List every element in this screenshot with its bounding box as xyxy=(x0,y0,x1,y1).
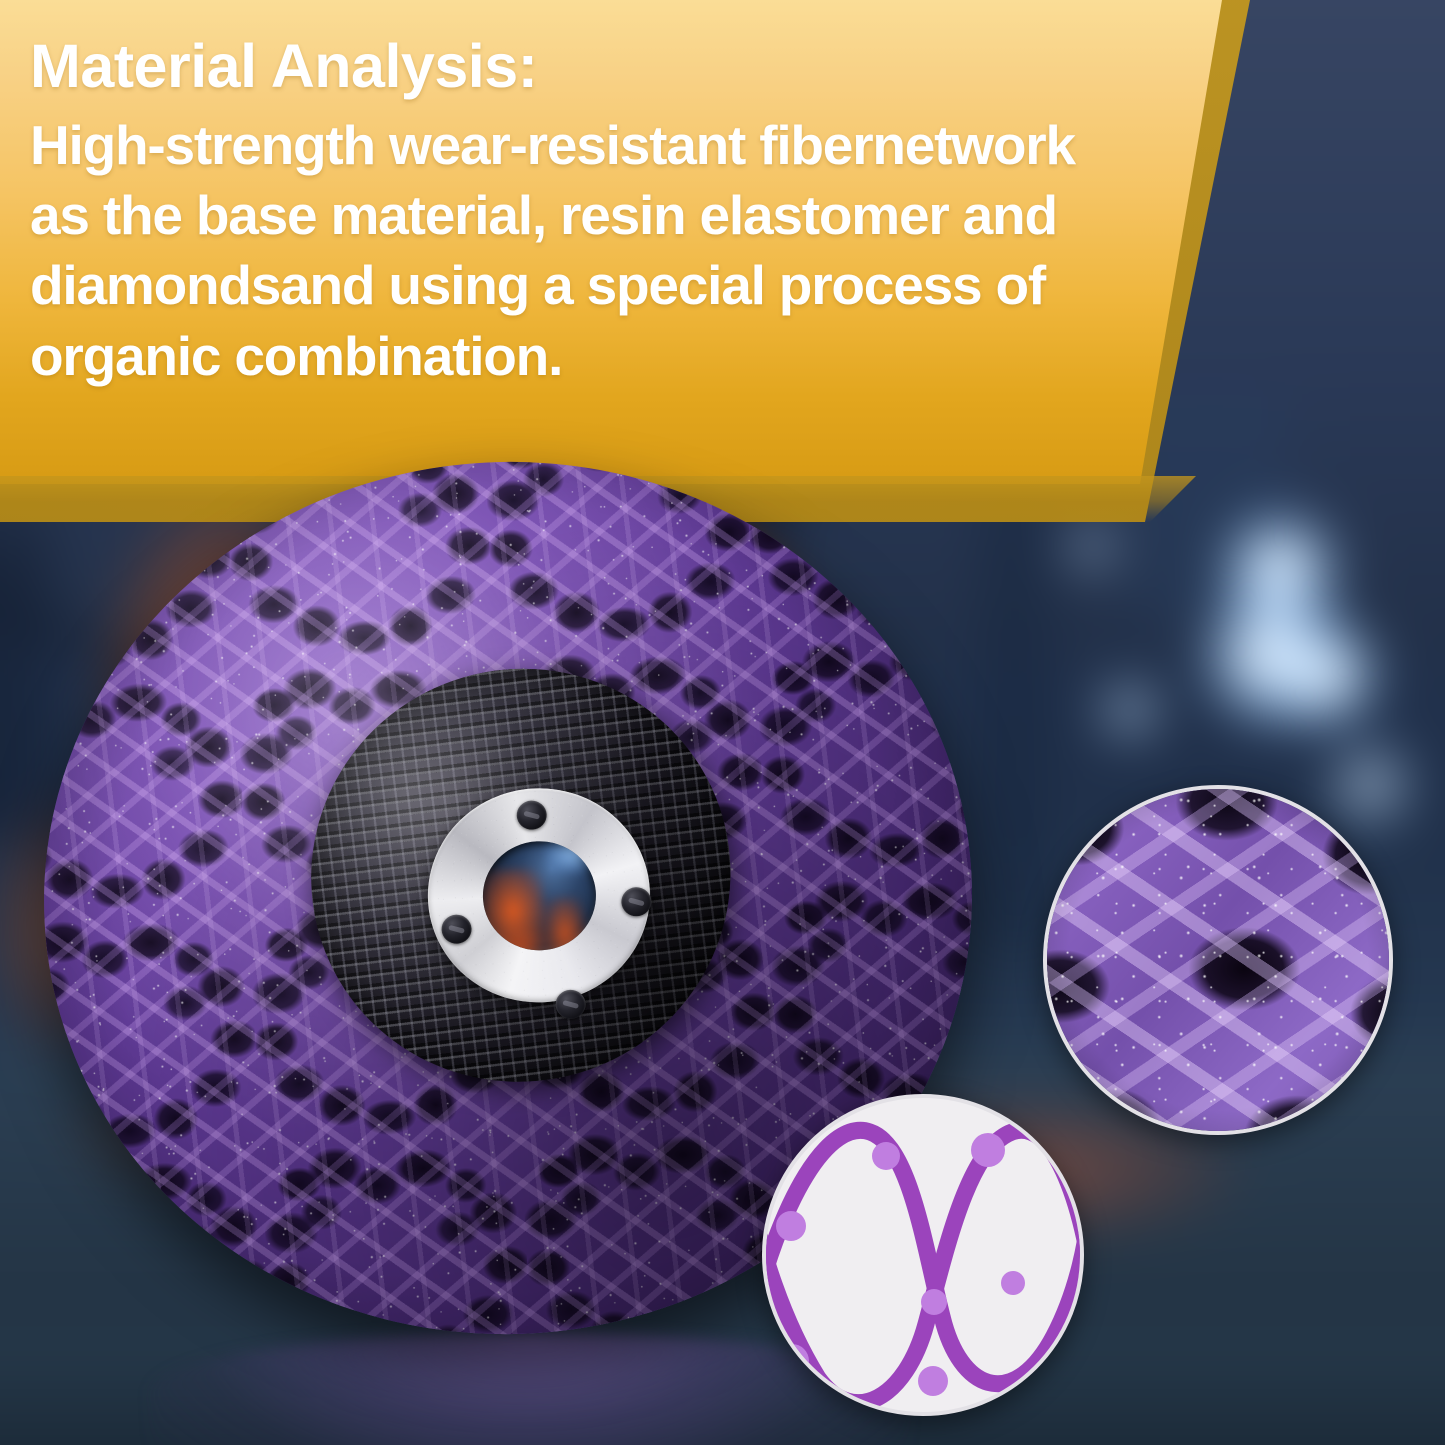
wave-node xyxy=(918,1366,948,1396)
fiber-network-wave-diagram xyxy=(766,1098,1080,1412)
banner-text-block: Material Analysis: High-strength wear-re… xyxy=(30,34,1180,391)
bore-glow xyxy=(494,923,551,953)
description-line: organic combination. xyxy=(30,321,1180,391)
work-lamp xyxy=(1065,520,1119,574)
page-title: Material Analysis: xyxy=(30,34,1180,99)
wave-node xyxy=(1001,1271,1025,1295)
wave-node xyxy=(775,1344,809,1378)
wave-node xyxy=(872,1142,900,1170)
product-infographic: Material Analysis: High-strength wear-re… xyxy=(0,0,1445,1445)
texture-closeup-inset xyxy=(1043,785,1393,1135)
bore-seethrough xyxy=(480,838,599,953)
fiber-network-diagram-inset xyxy=(762,1094,1084,1416)
description-line: as the base material, resin elastomer an… xyxy=(30,180,1180,250)
wave-node xyxy=(776,1211,806,1241)
work-lamp xyxy=(1100,680,1160,740)
wave-node xyxy=(921,1289,947,1315)
wave-node xyxy=(971,1133,1005,1167)
description-line: High-strength wear-resistant fibernetwor… xyxy=(30,110,1180,180)
banner-description: High-strength wear-resistant fibernetwor… xyxy=(30,110,1180,392)
work-lamp xyxy=(1270,620,1380,730)
description-line: diamondsand using a special process of xyxy=(30,250,1180,320)
bore-glow xyxy=(543,897,586,953)
center-bore xyxy=(480,838,599,953)
texture-closeup-vignette xyxy=(1047,789,1389,1131)
bore-light xyxy=(544,838,599,874)
